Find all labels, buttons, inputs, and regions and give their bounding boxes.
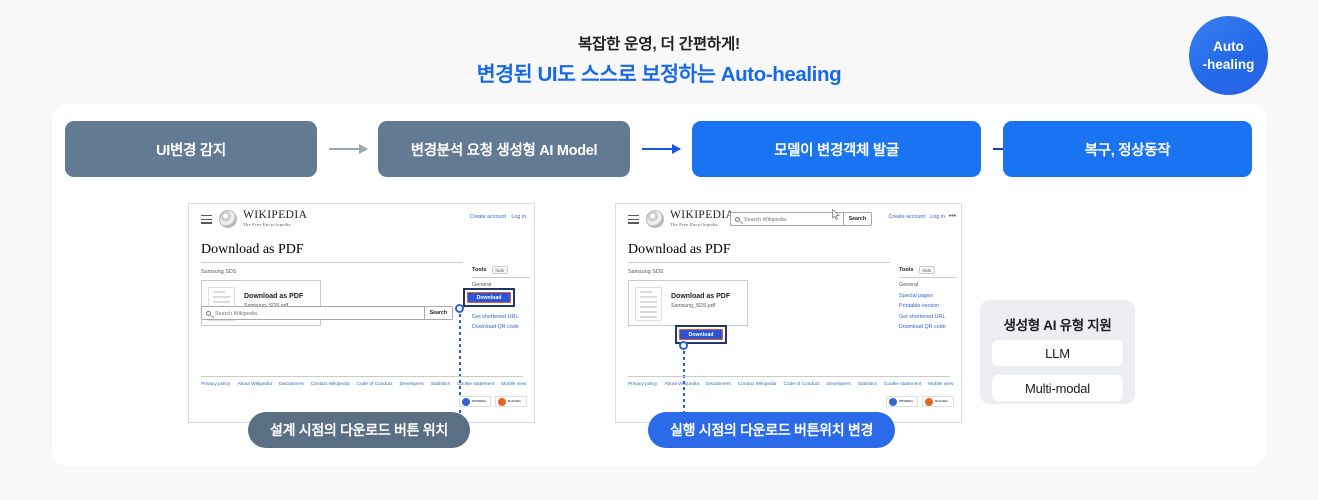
- wiki-topbar-left: WIKIPEDIA The Free Encyclopedia Create a…: [189, 204, 534, 234]
- position-marker-right: [679, 341, 688, 350]
- wikimedia-icon: [889, 398, 897, 406]
- footer-link-statistics[interactable]: Statistics: [858, 382, 877, 387]
- tools-hide-button[interactable]: hide: [492, 266, 509, 274]
- wiki-search-placeholder-left: Search Wikipedia: [215, 311, 257, 317]
- auto-healing-badge: Auto -healing: [1189, 16, 1268, 95]
- create-account-link[interactable]: Create account: [888, 214, 925, 220]
- tools-heading: Tools: [472, 267, 487, 273]
- footer-badges-left: WIKIMEDIA MediaWiki: [459, 396, 527, 407]
- mouse-cursor-icon: [832, 209, 840, 220]
- footer-link-cookie-statement[interactable]: Cookie statement: [457, 382, 494, 387]
- tools-heading: Tools: [899, 267, 914, 273]
- tools-link-printable-version[interactable]: Printable version: [899, 303, 957, 309]
- footer-link-mobile-view[interactable]: Mobile view: [501, 382, 526, 387]
- page-title: 변경된 UI도 스스로 보정하는 Auto-healing: [0, 57, 1318, 87]
- caption-runtime-label: 실행 시점의 다운로드 버튼위치 변경: [670, 420, 873, 440]
- tools-divider: [472, 277, 530, 278]
- footer-link-contact-wikipedia[interactable]: Contact Wikipedia: [311, 382, 350, 387]
- wiki-search-placeholder-right: Search Wikipedia: [744, 217, 786, 223]
- flow-step-4[interactable]: 복구, 정상동작: [1003, 121, 1252, 177]
- wikipedia-wordmark: WIKIPEDIA The Free Encyclopedia: [670, 209, 734, 228]
- ai-type-support-title: 생성형 AI 유형 지원: [980, 314, 1135, 334]
- footer-link-disclaimers[interactable]: Disclaimers: [279, 382, 304, 387]
- caption-design-time: 설계 시점의 다운로드 버튼 위치: [248, 412, 470, 448]
- hamburger-menu-icon[interactable]: [201, 215, 212, 223]
- article-title-right: Download as PDF: [628, 242, 731, 258]
- search-icon: [206, 311, 211, 316]
- pdf-file-card-right[interactable]: Download as PDF Samsung_SDS.pdf: [628, 280, 748, 326]
- log-in-link[interactable]: Log in: [930, 214, 945, 220]
- caption-design-time-label: 설계 시점의 다운로드 버튼 위치: [270, 420, 448, 440]
- powered-by-mediawiki-badge: MediaWiki: [495, 396, 527, 407]
- flow-step-3-label: 모델이 변경객체 발굴: [774, 139, 899, 160]
- auto-healing-badge-line1: Auto: [1213, 38, 1244, 56]
- hamburger-menu-icon[interactable]: [628, 215, 639, 223]
- wikimedia-badge-text: WIKIMEDIA: [472, 400, 486, 403]
- log-in-link[interactable]: Log in: [511, 214, 526, 220]
- title-divider: [628, 262, 890, 263]
- footer-link-code-of-conduct[interactable]: Code of Conduct: [783, 382, 819, 387]
- wikimedia-badge-text: WIKIMEDIA: [899, 400, 913, 403]
- content-card: UI변경 감지 변경분석 요청 생성형 AI Model 모델이 변경객체 발굴…: [52, 104, 1266, 466]
- pdf-file-name: Download as PDF: [244, 293, 303, 300]
- footer-link-cookie-statement[interactable]: Cookie statement: [884, 382, 921, 387]
- pdf-file-subname: Samsung_SDS.pdf: [671, 303, 715, 309]
- tools-link-special-pages[interactable]: Special pages: [899, 293, 957, 299]
- page-header: 복잡한 운영, 더 간편하게! 변경된 UI도 스스로 보정하는 Auto-he…: [0, 0, 1318, 100]
- ai-type-support-box: 생성형 AI 유형 지원 LLM Multi-modal: [980, 300, 1135, 404]
- tools-link-get-shortened-url[interactable]: Get shortened URL: [472, 314, 530, 320]
- tools-link-download-qr-code[interactable]: Download QR code: [472, 324, 530, 330]
- pdf-file-name: Download as PDF: [671, 293, 730, 300]
- auto-healing-badge-line2: -healing: [1203, 56, 1255, 74]
- wikipedia-globe-logo-icon: [219, 210, 237, 228]
- wiki-search-button-right[interactable]: Search: [843, 212, 871, 226]
- wikimedia-icon: [462, 398, 470, 406]
- flow-step-2[interactable]: 변경분석 요청 생성형 AI Model: [378, 121, 630, 177]
- tools-heading-row: Tools hide: [472, 266, 530, 274]
- footer-link-code-of-conduct[interactable]: Code of Conduct: [356, 382, 392, 387]
- powered-by-mediawiki-badge: MediaWiki: [922, 396, 954, 407]
- caption-runtime: 실행 시점의 다운로드 버튼위치 변경: [648, 412, 895, 448]
- flow-arrow-1-icon: [329, 148, 367, 150]
- wikimedia-foundation-badge: WIKIMEDIA: [459, 396, 491, 407]
- ai-type-chip-llm[interactable]: LLM: [992, 340, 1123, 366]
- wiki-search-button-left[interactable]: Search: [424, 306, 452, 320]
- wikipedia-runtime-screenshot: WIKIPEDIA The Free Encyclopedia Search W…: [615, 203, 962, 423]
- flow-step-1[interactable]: UI변경 감지: [65, 121, 317, 177]
- wikipedia-globe-logo-icon: [646, 210, 664, 228]
- arrow-head: [359, 144, 368, 154]
- flow-step-2-label: 변경분석 요청 생성형 AI Model: [411, 139, 598, 160]
- headline-subtitle: 복잡한 운영, 더 간편하게!: [0, 32, 1318, 54]
- footer-link-developers[interactable]: Developers: [399, 382, 423, 387]
- mediawiki-badge-text: MediaWiki: [508, 400, 521, 403]
- footer-link-statistics[interactable]: Statistics: [431, 382, 450, 387]
- footer-link-disclaimers[interactable]: Disclaimers: [706, 382, 731, 387]
- wikipedia-wordmark: WIKIPEDIA The Free Encyclopedia: [243, 209, 307, 228]
- mediawiki-icon: [498, 398, 506, 406]
- search-icon: [735, 217, 740, 222]
- tools-divider: [899, 277, 957, 278]
- footer-link-about-wikipedia[interactable]: About Wikipedia: [237, 382, 272, 387]
- pdf-thumbnail-icon: [635, 287, 662, 321]
- wikipedia-tagline: The Free Encyclopedia: [243, 221, 307, 228]
- download-button-highlight-left: Download: [463, 288, 515, 307]
- tools-link-get-shortened-url[interactable]: Get shortened URL: [899, 314, 957, 320]
- flow-arrow-2-icon: [642, 148, 680, 150]
- article-subtitle-left: Samsung SDS: [201, 269, 236, 275]
- flow-step-3[interactable]: 모델이 변경객체 발굴: [692, 121, 981, 177]
- flow-step-1-label: UI변경 감지: [156, 139, 226, 160]
- tools-hide-button[interactable]: hide: [919, 266, 936, 274]
- tools-link-download-qr-code[interactable]: Download QR code: [899, 324, 957, 330]
- position-marker-left: [455, 304, 464, 313]
- mediawiki-icon: [925, 398, 933, 406]
- wikipedia-wordmark-text: WIKIPEDIA: [243, 209, 307, 221]
- wiki-search-box-left[interactable]: Search Wikipedia Search: [201, 306, 453, 320]
- footer-badges-right: WIKIMEDIA MediaWiki: [886, 396, 954, 407]
- wikipedia-tagline: The Free Encyclopedia: [670, 221, 734, 228]
- wiki-footer-links-right: Privacy policy About Wikipedia Disclaime…: [628, 382, 953, 387]
- footer-link-mobile-view[interactable]: Mobile view: [928, 382, 953, 387]
- footer-link-privacy-policy[interactable]: Privacy policy: [628, 382, 657, 387]
- footer-link-about-wikipedia[interactable]: About Wikipedia: [664, 382, 699, 387]
- download-button-left[interactable]: Download: [467, 292, 511, 303]
- wikimedia-foundation-badge: WIKIMEDIA: [886, 396, 918, 407]
- wiki-topbar-right: WIKIPEDIA The Free Encyclopedia Search W…: [616, 204, 961, 234]
- flow-step-4-label: 복구, 정상동작: [1085, 139, 1171, 160]
- footer-link-contact-wikipedia[interactable]: Contact Wikipedia: [738, 382, 777, 387]
- arrow-head: [672, 144, 681, 154]
- footer-divider-left: [201, 376, 523, 377]
- ai-type-chip-multi-modal[interactable]: Multi-modal: [992, 375, 1123, 401]
- wiki-search-box-right[interactable]: Search Wikipedia Search: [730, 212, 872, 226]
- wiki-footer-links-left: Privacy policy About Wikipedia Disclaime…: [201, 382, 526, 387]
- wikipedia-design-screenshot: WIKIPEDIA The Free Encyclopedia Create a…: [188, 203, 535, 423]
- tools-sidebar-right: Tools hide General Special pages Printab…: [899, 266, 957, 335]
- footer-divider-right: [628, 376, 950, 377]
- wikipedia-wordmark-text: WIKIPEDIA: [670, 209, 734, 221]
- article-title-left: Download as PDF: [201, 242, 304, 258]
- tools-link-general[interactable]: General: [899, 282, 957, 288]
- footer-link-privacy-policy[interactable]: Privacy policy: [201, 382, 230, 387]
- more-options-icon[interactable]: •••: [949, 213, 956, 220]
- download-button-right[interactable]: Download: [679, 329, 723, 340]
- tools-heading-row: Tools hide: [899, 266, 957, 274]
- create-account-link[interactable]: Create account: [469, 214, 506, 220]
- footer-link-developers[interactable]: Developers: [826, 382, 850, 387]
- mediawiki-badge-text: MediaWiki: [935, 400, 948, 403]
- article-subtitle-right: Samsung SDS: [628, 269, 663, 275]
- title-divider: [201, 262, 463, 263]
